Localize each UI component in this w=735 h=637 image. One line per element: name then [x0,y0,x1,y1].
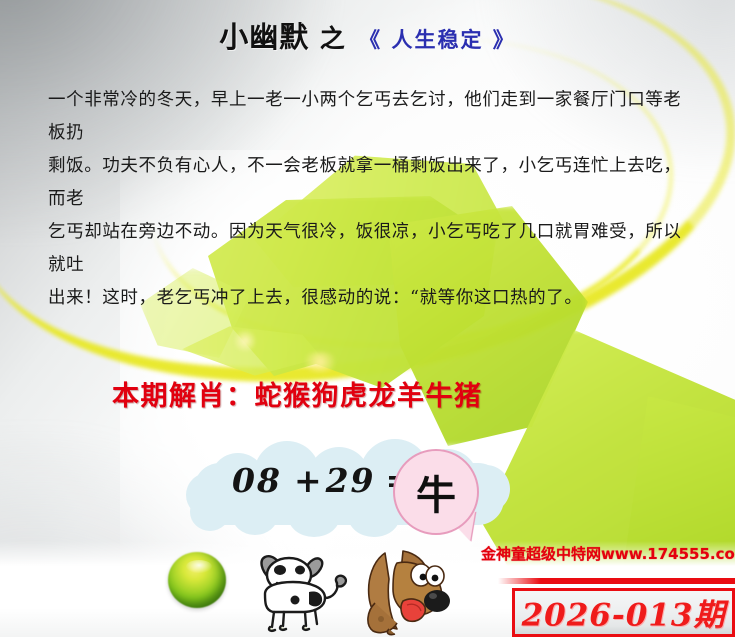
cloud-puff-9 [232,495,278,535]
page-title: 小幽默 之 《 人生稳定 》 [0,14,735,56]
equation-plus-sign: + [294,461,324,500]
story-body: 一个非常冷的冬天，早上一老一小两个乞丐去乞讨，他们走到一家餐厅门口等老板扔 剩饭… [48,84,693,315]
issue-red-bar [498,578,735,584]
equation-left-number: 08 [232,461,282,500]
story-line-3: 乞丐却站在旁边不动。因为天气很冷，饭很凉，小乞丐吃了几口就胃难受，所以就吐 [48,216,693,282]
poster-canvas: 小幽默 之 《 人生稳定 》 一个非常冷的冬天，早上一老一小两个乞丐去乞讨，他们… [0,0,735,637]
title-subtitle-text: 《 人生稳定 》 [359,28,516,52]
leaf-sparkle-a [232,330,258,352]
story-line-1: 一个非常冷的冬天，早上一老一小两个乞丐去乞讨，他们走到一家餐厅门口等老板扔 [48,84,693,150]
story-line-4: 出来！这时，老乞丐冲了上去，很感动的说：“就等你这口热的了。 [48,282,693,315]
cloud-puff-10 [288,495,340,537]
title-main-text: 小幽默 [219,20,309,54]
cloud-puff-11 [348,495,400,537]
answer-bubble: 牛 [393,449,479,535]
leaf-sparkle-b [300,352,340,372]
equation-right-number: 29 [326,461,376,500]
issue-number-box: 2026-013期 [512,588,735,637]
cow-illustration [243,548,355,634]
green-sphere-highlight [186,560,212,573]
equation-expression: 08+29= [232,461,415,500]
story-line-2: 剩饭。功夫不负有心人，不一会老板就拿一桶剩饭出来了，小乞丐连忙上去吃，而老 [48,150,693,216]
answer-zodiac-character: 牛 [395,463,477,521]
site-brand-text: 金神童超级中特网www.174555.com [481,543,735,564]
prediction-line: 本期解肖：蛇猴狗虎龙羊牛猪 [112,374,483,413]
cloud-puff-8 [190,493,230,531]
title-connector-text: 之 [320,24,345,53]
issue-number-text: 2026-013期 [515,589,732,634]
dog-illustration [345,545,455,637]
